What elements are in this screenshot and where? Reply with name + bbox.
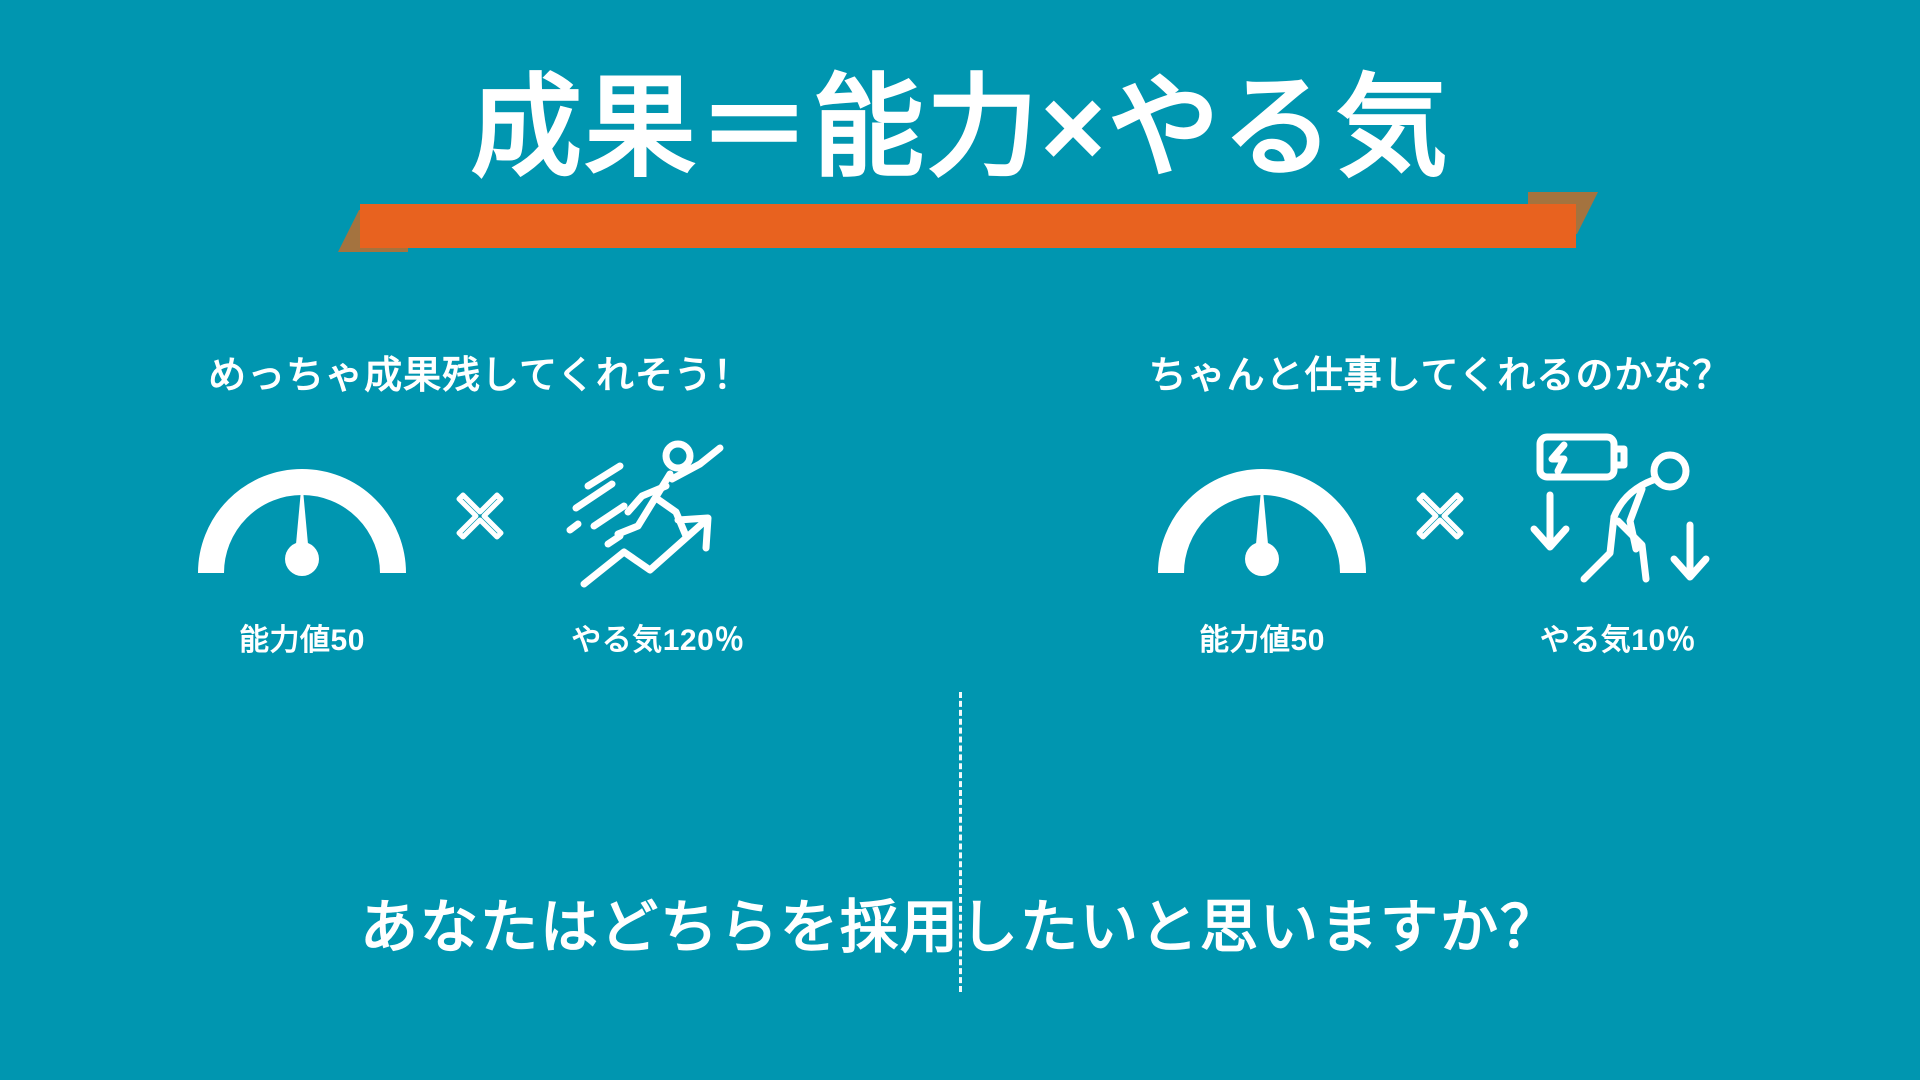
panel-right-motivation-cell: やる気10％ (1503, 441, 1733, 659)
multiply-icon (1409, 485, 1471, 547)
panel-left-ability-cell: 能力値50 (187, 441, 417, 659)
panel-right-ability-cell: 能力値50 (1147, 441, 1377, 659)
panel-left-motivation-caption: やる気120％ (571, 615, 745, 659)
closing-question: あなたはどちらを採用したいと思いますか？ (0, 880, 1920, 964)
gauge-icon (197, 441, 407, 591)
gauge-icon (1157, 441, 1367, 591)
title-banner (260, 192, 1660, 252)
panel-right-motivation-caption: やる気10％ (1540, 615, 1696, 659)
panel-left: めっちゃ成果残してくれそう！ 能力値50 (0, 340, 960, 670)
slide-root: 成果＝能力×やる気 めっちゃ成果残してくれそう！ 能力値50 (0, 0, 1920, 1080)
running-person-growth-arrow-icon (558, 441, 758, 591)
comparison-area: めっちゃ成果残してくれそう！ 能力値50 (0, 340, 1920, 670)
panel-left-ability-caption: 能力値50 (239, 615, 365, 659)
page-title: 成果＝能力×やる気 (0, 72, 1920, 184)
panel-right: ちゃんと仕事してくれるのかな？ 能力値50 (960, 340, 1920, 670)
tired-person-low-battery-icon (1518, 441, 1718, 591)
banner-main-bar (360, 204, 1576, 248)
panel-left-motivation-cell: やる気120％ (543, 441, 773, 659)
panel-right-ability-caption: 能力値50 (1199, 615, 1325, 659)
panel-right-operator (1403, 441, 1477, 591)
title-zone: 成果＝能力×やる気 (0, 72, 1920, 262)
panel-left-heading: めっちゃ成果残してくれそう！ (208, 344, 752, 399)
panel-right-heading: ちゃんと仕事してくれるのかな？ (1149, 344, 1732, 399)
multiply-icon (449, 485, 511, 547)
panel-right-icon-row: 能力値50 (1147, 441, 1733, 659)
panel-left-operator (443, 441, 517, 591)
panel-left-icon-row: 能力値50 (187, 441, 773, 659)
